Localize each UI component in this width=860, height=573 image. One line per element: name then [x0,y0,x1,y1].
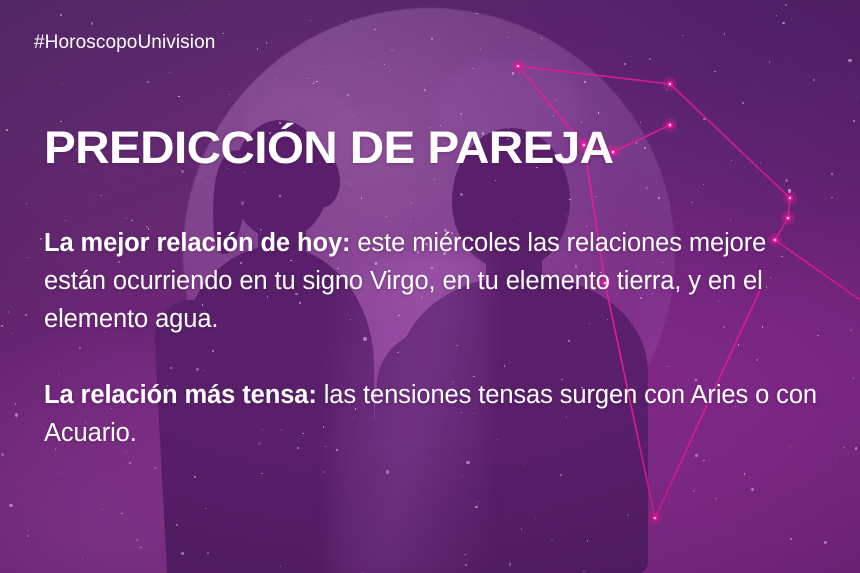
hashtag-label: #HoroscopoUnivision [34,32,215,54]
paragraph-lead-best: La mejor relación de hoy: [44,229,350,257]
horoscope-card: #HoroscopoUnivision PREDICCIÓN DE PAREJA… [0,0,860,573]
paragraph-best-relationship: La mejor relación de hoy: este miércoles… [44,224,834,338]
prediction-body: La mejor relación de hoy: este miércoles… [44,198,834,477]
page-title: PREDICCIÓN DE PAREJA [44,122,614,174]
paragraph-tense-relationship: La relación más tensa: las tensiones ten… [44,376,834,452]
paragraph-lead-tense: La relación más tensa: [44,381,317,409]
